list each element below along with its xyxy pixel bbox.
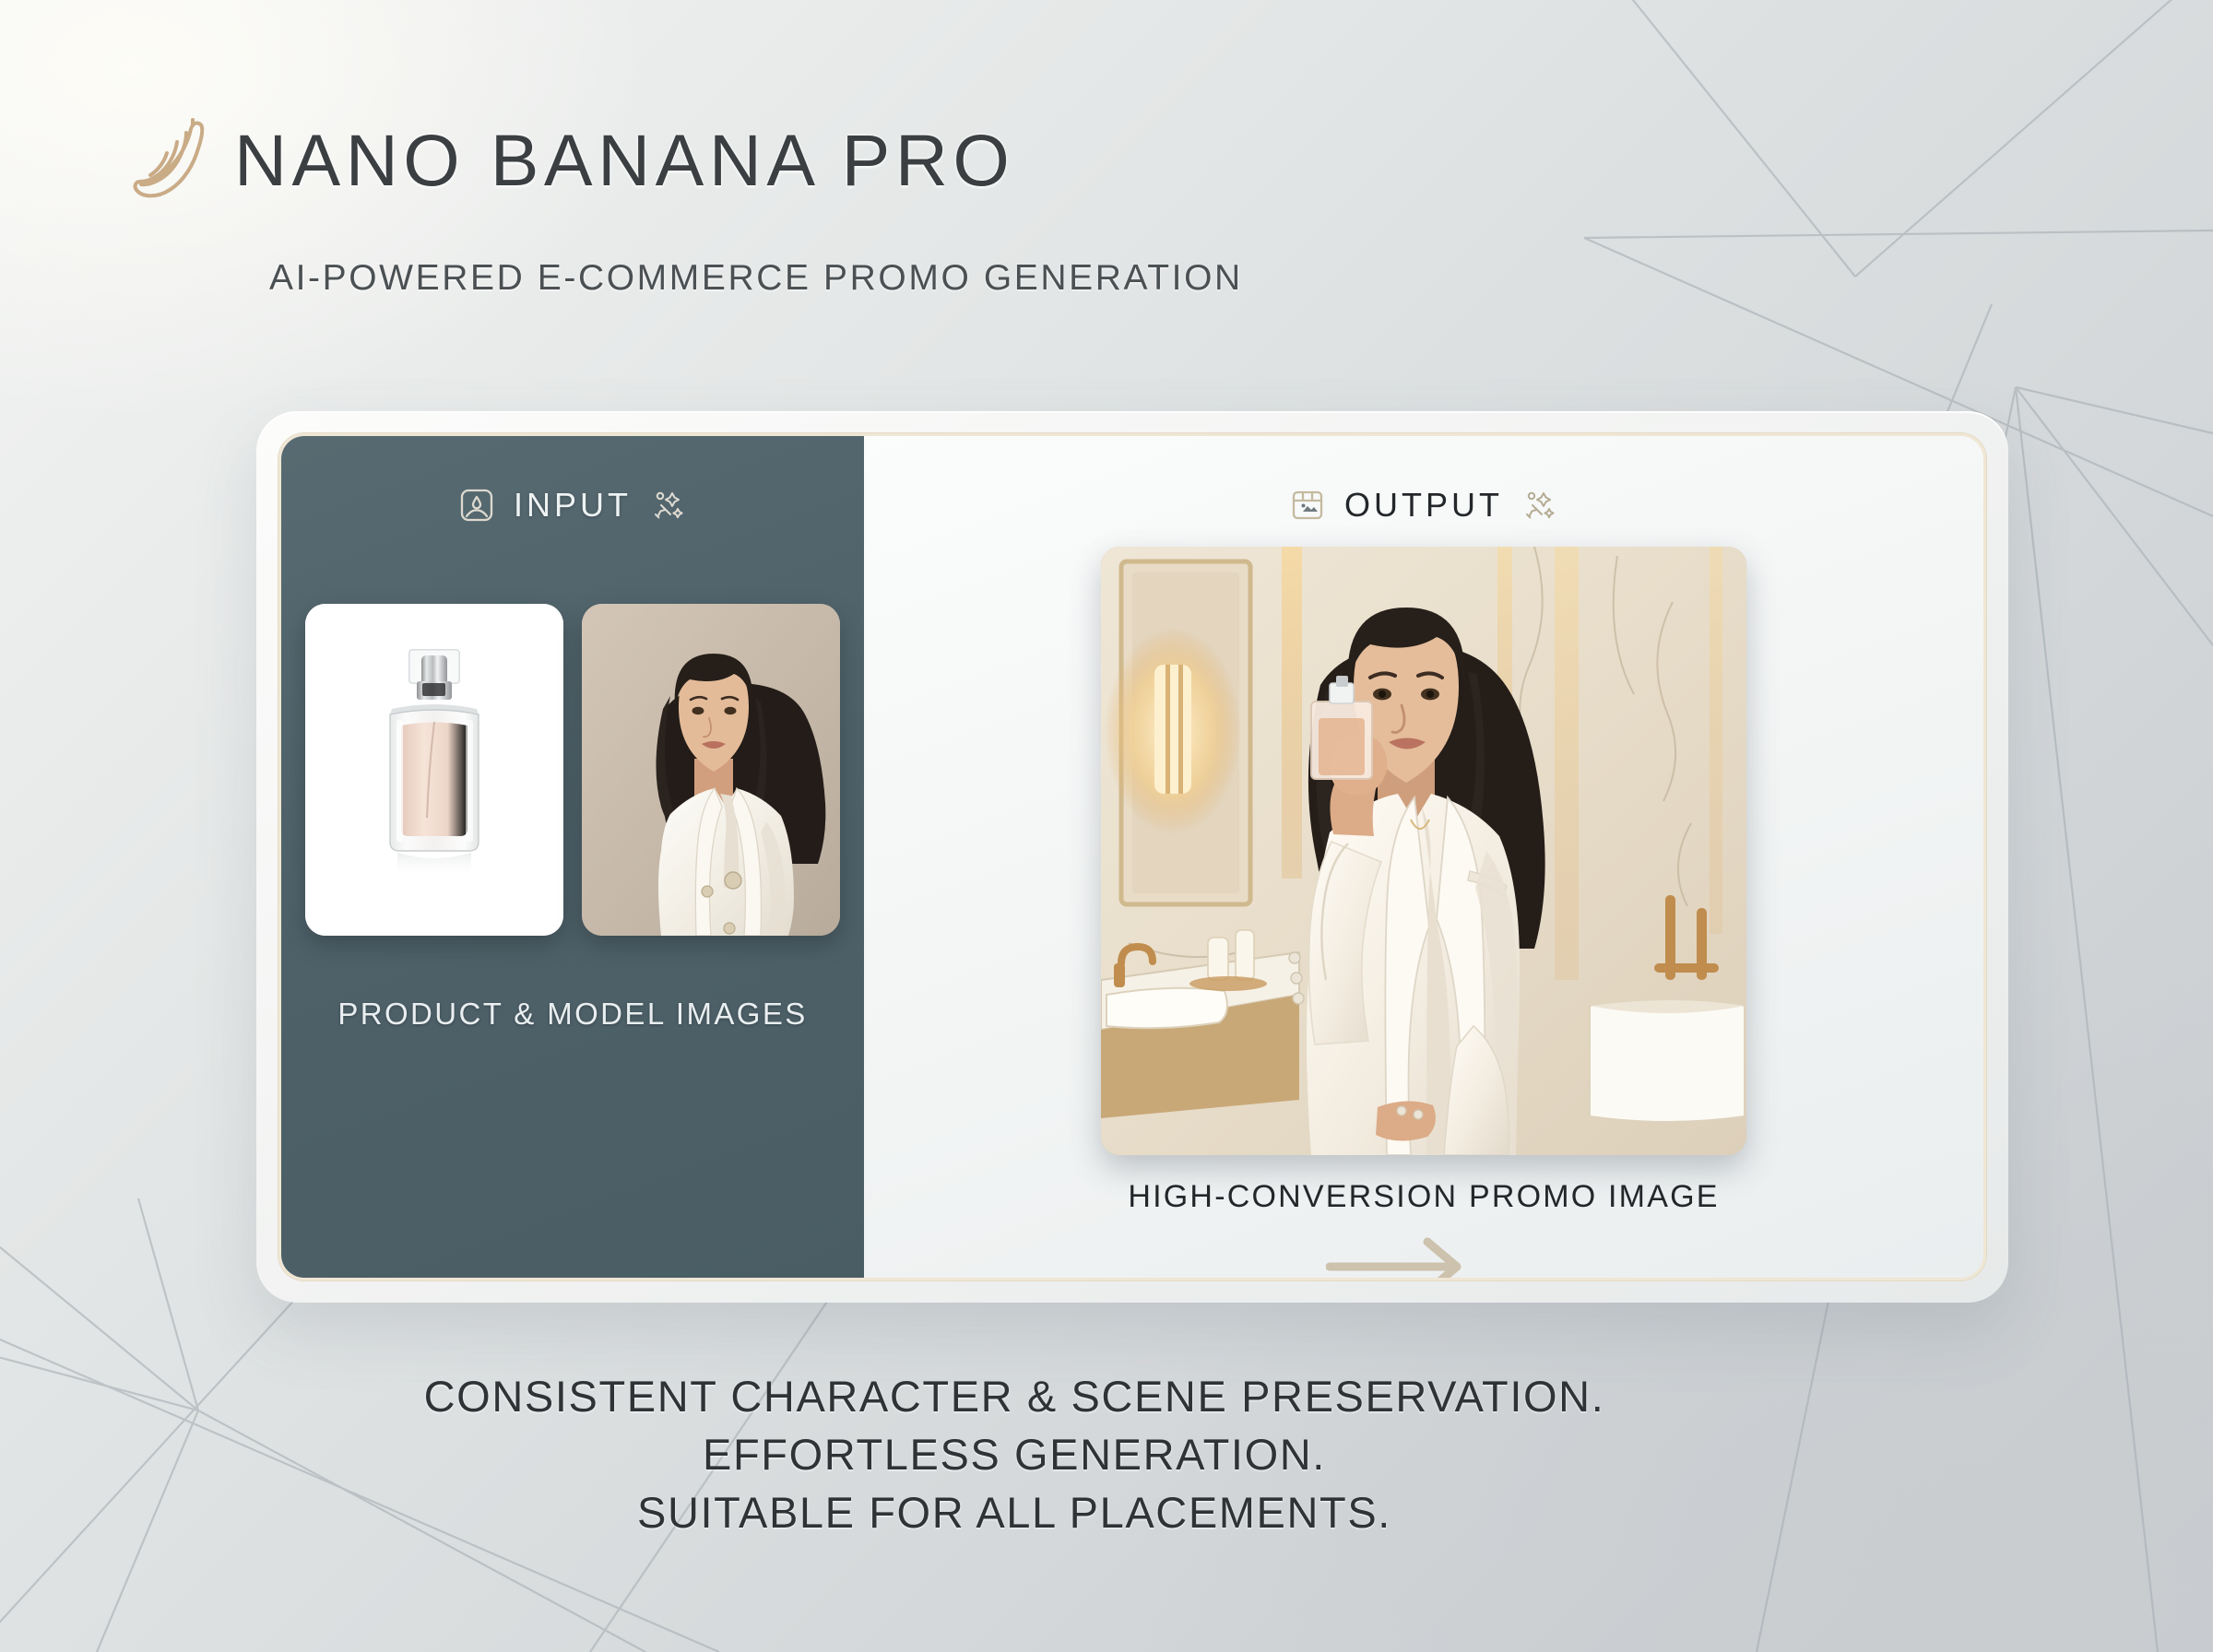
page-title: NANO BANANA PRO (234, 118, 1014, 203)
input-pane: INPUT (281, 436, 864, 1278)
page-subtitle: AI-POWERED E-COMMERCE PROMO GENERATION (269, 258, 1243, 299)
input-label: INPUT (514, 486, 632, 525)
model-image[interactable] (582, 604, 840, 936)
tagline: CONSISTENT CHARACTER & SCENE PRESERVATIO… (0, 1367, 2213, 1541)
input-cards (305, 604, 840, 936)
sparkles-icon (1521, 487, 1558, 524)
input-header: INPUT (281, 486, 864, 525)
banana-bunch-icon (129, 118, 210, 203)
product-image[interactable] (305, 604, 563, 936)
tagline-line-3: SUITABLE FOR ALL PLACEMENTS. (0, 1483, 2029, 1541)
portrait-frame-icon (458, 487, 495, 524)
showcase-panel: INPUT (256, 411, 2008, 1303)
output-label: OUTPUT (1344, 486, 1503, 525)
input-caption: PRODUCT & MODEL IMAGES (281, 997, 864, 1032)
window-frame-icon (1289, 487, 1326, 524)
sparkles-icon (650, 487, 687, 524)
output-caption: HIGH-CONVERSION PROMO IMAGE (864, 1179, 1983, 1215)
promo-image[interactable] (1101, 547, 1746, 1155)
tagline-line-2: EFFORTLESS GENERATION. (0, 1425, 2029, 1483)
brand-row: NANO BANANA PRO (129, 118, 1014, 203)
output-pane: OUTPUT (864, 436, 1983, 1278)
right-arrow-icon (1326, 1234, 1473, 1280)
showcase-panel-inner: INPUT (278, 433, 1986, 1280)
output-header: OUTPUT (864, 486, 1983, 525)
tagline-line-1: CONSISTENT CHARACTER & SCENE PRESERVATIO… (0, 1367, 2029, 1425)
